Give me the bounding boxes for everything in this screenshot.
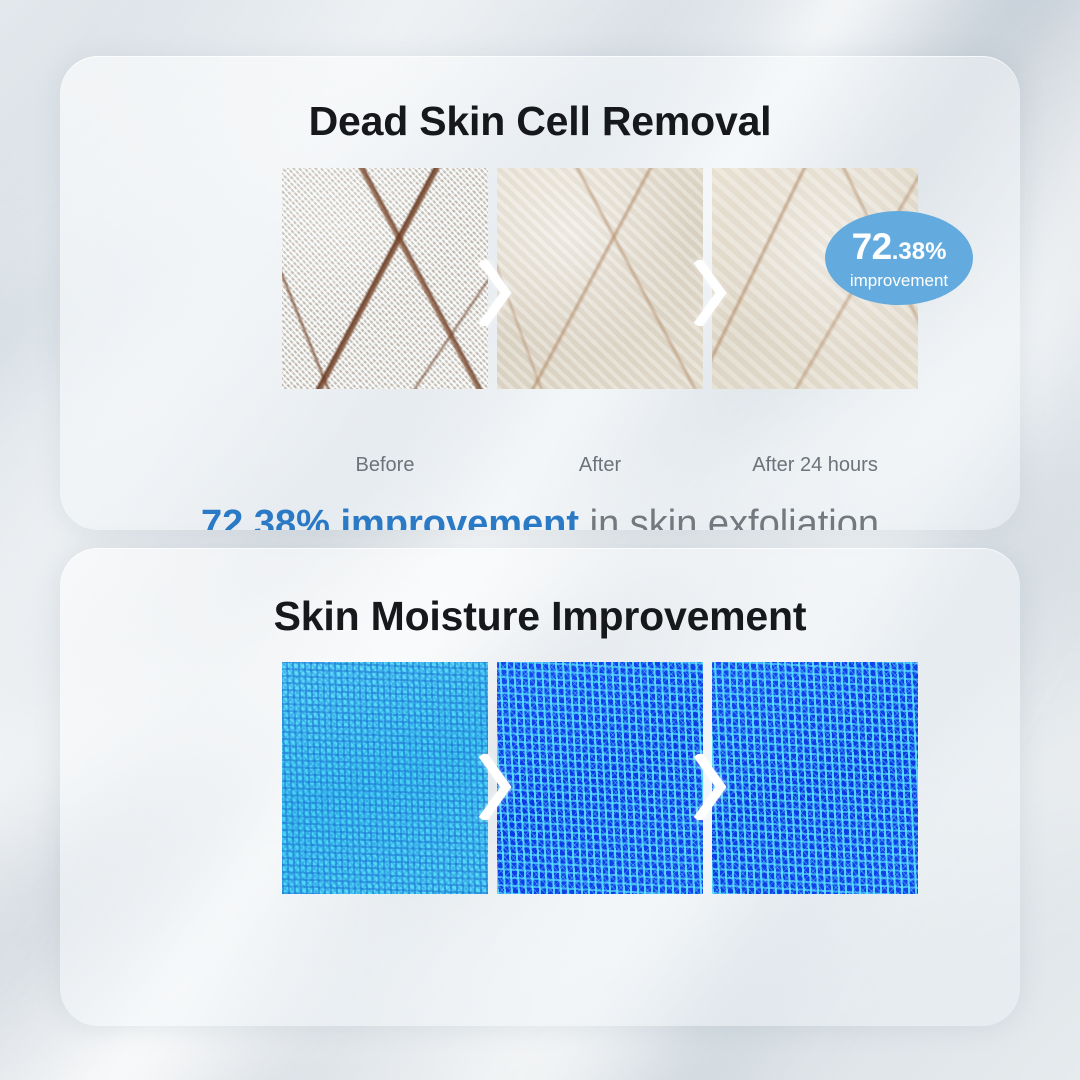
card-title: Dead Skin Cell Removal [60,98,1020,145]
chevron-right-icon [693,260,727,326]
moisture-map-after-24-hours-image [712,662,918,894]
summary-highlight: 72.38% improvement [201,503,579,530]
summary-line: 72.38% improvement in skin exfoliation [60,503,1020,530]
comparison-cell-after [497,168,703,389]
comparison-cell-before [282,168,488,389]
comparison-cell-after-24-hours [712,662,918,894]
skin-texture-after-image [497,168,703,389]
chevron-right-icon [693,754,727,820]
comparison-image-row [282,168,918,389]
caption-after: After [497,454,703,477]
badge-value-minor: .38% [892,240,947,264]
caption-row: Before After After 24 hours [282,454,918,477]
badge-percentage: 72 .38% [852,228,947,265]
badge-label: improvement [850,272,948,289]
badge-value-major: 72 [852,228,892,265]
improvement-badge: 72 .38% improvement [825,211,973,305]
summary-rest: in skin exfoliation [579,503,879,530]
moisture-map-before-image [282,662,488,894]
caption-after-24-hours: After 24 hours [712,454,918,477]
infographic-root: Dead Skin Cell Removal 72 .38% improveme… [0,0,1080,1080]
skin-texture-before-image [282,168,488,389]
card-skin-moisture-improvement: Skin Moisture Improvement 96 .23% improv… [60,548,1020,1026]
card-dead-skin-cell-removal: Dead Skin Cell Removal 72 .38% improveme… [60,56,1020,530]
moisture-map-after-image [497,662,703,894]
comparison-image-row [282,662,918,894]
card-title: Skin Moisture Improvement [60,593,1020,640]
comparison-cell-before [282,662,488,894]
caption-before: Before [282,454,488,477]
chevron-right-icon [478,260,512,326]
chevron-right-icon [478,754,512,820]
comparison-cell-after [497,662,703,894]
